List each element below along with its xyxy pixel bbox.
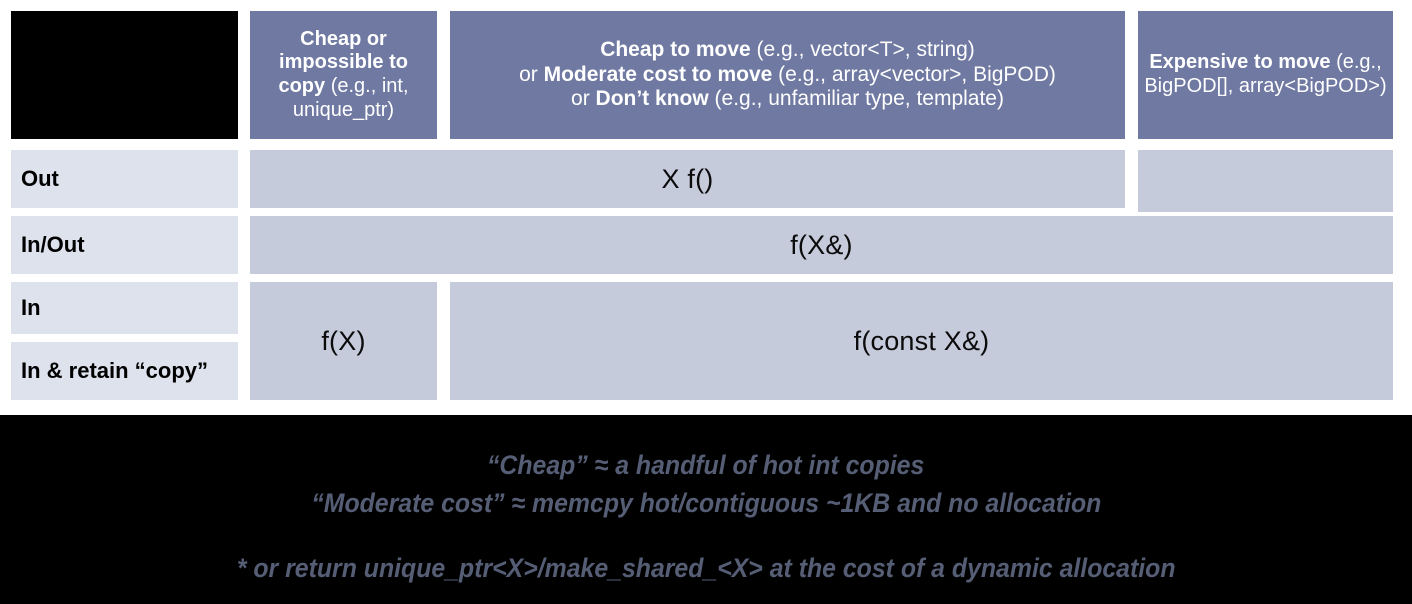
column-header-cheap-to-move: Cheap to move (e.g., vector<T>, string) … bbox=[450, 11, 1125, 139]
column-header-2-line1-bold: Cheap to move bbox=[600, 38, 751, 61]
column-header-2-line3-prefix: or bbox=[571, 87, 596, 110]
footer-note-moderate-cost: “Moderate cost” ≈ memcpy hot/contiguous … bbox=[311, 484, 1101, 522]
column-header-2-line2-prefix: or bbox=[519, 63, 544, 86]
column-header-3-bold: Expensive to move bbox=[1149, 51, 1330, 73]
column-header-2-line1-rest: (e.g., vector<T>, string) bbox=[751, 38, 975, 61]
cell-inout-fxref: f(X&) bbox=[250, 216, 1393, 274]
column-header-2-line3-bold: Don’t know bbox=[596, 87, 709, 110]
column-header-2-line3-rest: (e.g., unfamiliar type, template) bbox=[709, 87, 1004, 110]
row-label-in-retain-copy: In & retain “copy” bbox=[11, 342, 238, 400]
slide-root: Cheap or impossible to copy (e.g., int, … bbox=[0, 0, 1412, 604]
footer-notes: “Cheap” ≈ a handful of hot int copies “M… bbox=[0, 415, 1412, 604]
cell-in-fconstxref: f(const X&) bbox=[450, 282, 1393, 400]
row-label-in: In bbox=[11, 282, 238, 334]
row-label-in-out: In/Out bbox=[11, 216, 238, 274]
table-corner-cell bbox=[11, 11, 238, 139]
footer-note-return-smart-pointer: * or return unique_ptr<X>/make_shared_<X… bbox=[237, 549, 1176, 587]
column-header-2-line2-bold: Moderate cost to move bbox=[544, 63, 773, 86]
column-header-2-line2-rest: (e.g., array<vector>, BigPOD) bbox=[772, 63, 1056, 86]
column-header-cheap-or-impossible-to-copy: Cheap or impossible to copy (e.g., int, … bbox=[250, 11, 437, 139]
cell-out-expensive-empty bbox=[1138, 150, 1393, 212]
parameter-passing-table: Cheap or impossible to copy (e.g., int, … bbox=[0, 0, 1412, 415]
cell-in-fx: f(X) bbox=[250, 282, 437, 400]
footer-note-cheap: “Cheap” ≈ a handful of hot int copies bbox=[487, 446, 924, 484]
cell-out-xf: X f() bbox=[250, 150, 1125, 208]
column-header-expensive-to-move: Expensive to move (e.g., BigPOD[], array… bbox=[1138, 11, 1393, 139]
row-label-out: Out bbox=[11, 150, 238, 208]
